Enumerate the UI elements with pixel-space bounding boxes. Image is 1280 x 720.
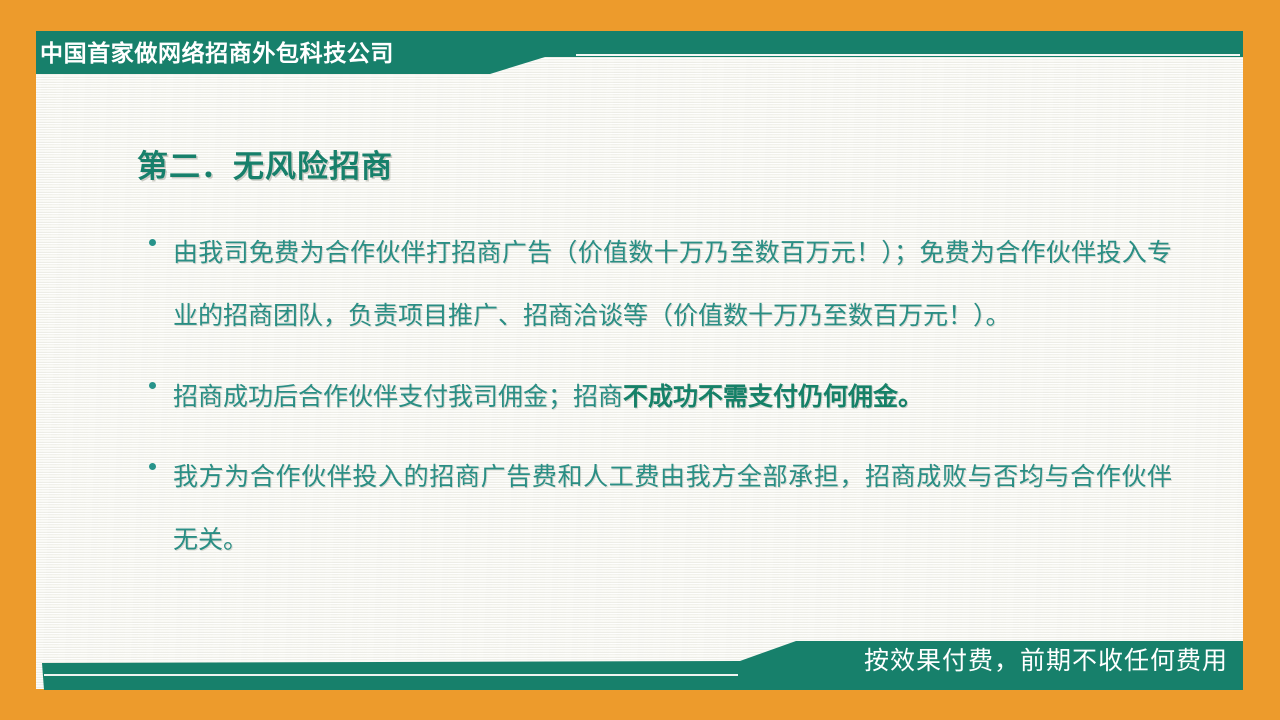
list-item-text: 招商成功后合作伙伴支付我司佣金；招商不成功不需支付仍何佣金。	[173, 366, 1172, 429]
list-item: 由我司免费为合作伙伴打招商广告（价值数十万乃至数百万元！）；免费为合作伙伴投入专…	[137, 223, 1172, 348]
list-item-text: 我方为合作伙伴投入的招商广告费和人工费由我方全部承担，招商成败与否均与合作伙伴无…	[173, 447, 1172, 572]
header-title: 中国首家做网络招商外包科技公司	[40, 36, 394, 70]
list-item-text-plain: 由我司免费为合作伙伴打招商广告（价值数十万乃至数百万元！）；免费为合作伙伴投入专…	[173, 240, 1172, 330]
list-item-text-plain: 招商成功后合作伙伴支付我司佣金；招商	[173, 384, 623, 411]
bullet-dot-icon	[149, 463, 156, 470]
slide-content: 第二．无风险招商 由我司免费为合作伙伴打招商广告（价值数十万乃至数百万元！）；免…	[36, 75, 1243, 630]
bullet-dot-icon	[149, 239, 156, 246]
list-item: 招商成功后合作伙伴支付我司佣金；招商不成功不需支付仍何佣金。	[137, 366, 1172, 429]
bullet-list: 由我司免费为合作伙伴打招商广告（价值数十万乃至数百万元！）；免费为合作伙伴投入专…	[137, 223, 1172, 590]
footer-divider-line	[44, 674, 738, 676]
bullet-dot-icon	[149, 382, 156, 389]
page-title: 第二．无风险招商	[137, 141, 393, 186]
list-item-text-emphasis: 不成功不需支付仍何佣金。	[623, 383, 923, 411]
footer-tagline: 按效果付费，前期不收任何费用	[864, 644, 1228, 678]
list-item-text-plain: 我方为合作伙伴投入的招商广告费和人工费由我方全部承担，招商成败与否均与合作伙伴无…	[173, 464, 1172, 554]
slide-canvas: 中国首家做网络招商外包科技公司 第二．无风险招商 由我司免费为合作伙伴打招商广告…	[0, 0, 1280, 720]
list-item: 我方为合作伙伴投入的招商广告费和人工费由我方全部承担，招商成败与否均与合作伙伴无…	[137, 447, 1172, 572]
list-item-text: 由我司免费为合作伙伴打招商广告（价值数十万乃至数百万元！）；免费为合作伙伴投入专…	[173, 223, 1172, 348]
header-divider-line	[576, 54, 1240, 56]
